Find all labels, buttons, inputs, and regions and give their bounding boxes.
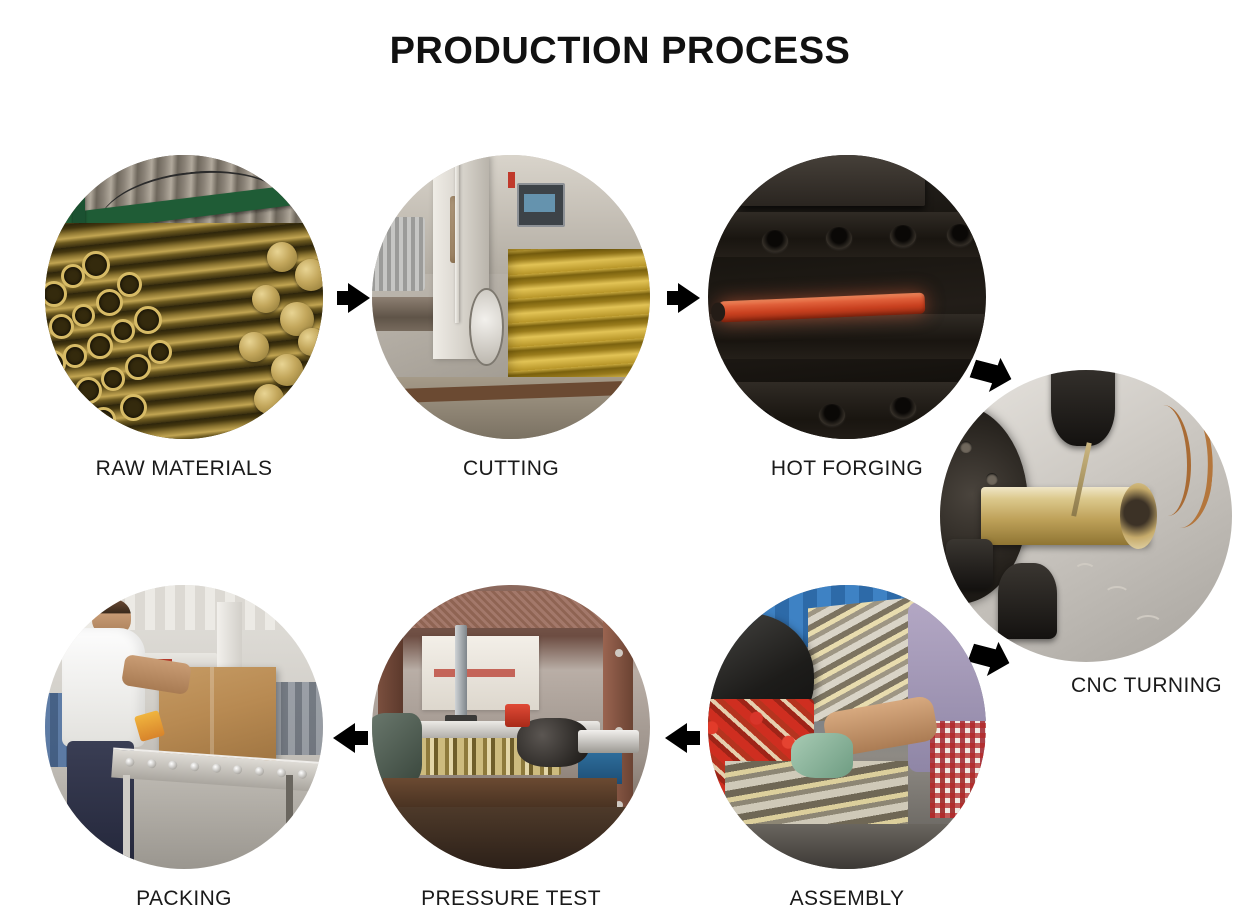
- brass-rod-ends: [201, 229, 323, 439]
- worker-shirt: [62, 628, 145, 747]
- metal-chip-1: [1104, 586, 1130, 604]
- wall-banner: [422, 636, 539, 710]
- brass-bar-bundle: [508, 249, 650, 385]
- step-label-cnc-turning: CNC TURNING: [1071, 674, 1222, 698]
- die-band-upper: [708, 212, 986, 257]
- factory-ceiling: [45, 585, 323, 630]
- background-machines-right: [267, 682, 323, 756]
- green-glove: [791, 733, 852, 778]
- step-label-packing: PACKING: [136, 887, 232, 911]
- photo-packing: [45, 585, 323, 869]
- step-assembly[interactable]: ASSEMBLY: [708, 585, 986, 915]
- machine-base: [372, 807, 650, 869]
- step-label-hot-forging: HOT FORGING: [771, 457, 923, 481]
- step-label-cutting: CUTTING: [463, 457, 559, 481]
- saw-motor: [372, 217, 425, 291]
- conveyor-frame: [123, 775, 293, 869]
- metal-chip-2: [1133, 615, 1163, 635]
- work-bench: [708, 824, 986, 869]
- worker-apron: [930, 721, 986, 818]
- step-label-pressure-test: PRESSURE TEST: [421, 887, 601, 911]
- step-packing[interactable]: PACKING: [45, 585, 323, 915]
- wooden-table: [383, 778, 617, 806]
- photo-assembly: [708, 585, 986, 869]
- step-label-assembly: ASSEMBLY: [790, 887, 905, 911]
- photo-pressure-test: [372, 585, 650, 869]
- step-label-raw-materials: RAW MATERIALS: [96, 457, 273, 481]
- brass-workpiece: [981, 487, 1150, 545]
- brass-tube-ends: [45, 235, 206, 439]
- photo-raw-materials: [45, 155, 323, 439]
- metal-chip-3: [1074, 563, 1096, 579]
- arrow-assembly-to-pressure: [665, 723, 687, 753]
- arrow-raw-to-cutting: [348, 283, 370, 313]
- photo-cutting: [372, 155, 650, 439]
- control-panel: [517, 183, 565, 227]
- cutting-tool-lower: [998, 563, 1056, 639]
- cutting-tool-upper: [1051, 370, 1115, 446]
- chrome-rod: [578, 730, 639, 753]
- step-raw-materials[interactable]: RAW MATERIALS: [45, 155, 323, 485]
- hydraulic-ram: [455, 625, 466, 719]
- blade-disc: [469, 288, 504, 366]
- forging-die-block: [741, 155, 924, 206]
- tool-holder: [946, 539, 993, 589]
- page-title: PRODUCTION PROCESS: [0, 30, 1240, 73]
- red-valve-handle: [505, 704, 530, 727]
- step-cutting[interactable]: CUTTING: [372, 155, 650, 485]
- saw-blade: [455, 155, 459, 323]
- arrow-cutting-to-forging: [678, 283, 700, 313]
- operator-glove: [372, 713, 422, 787]
- step-pressure-test[interactable]: PRESSURE TEST: [372, 585, 650, 915]
- indicator-lamp: [508, 172, 515, 188]
- arrow-pressure-to-packing: [333, 723, 355, 753]
